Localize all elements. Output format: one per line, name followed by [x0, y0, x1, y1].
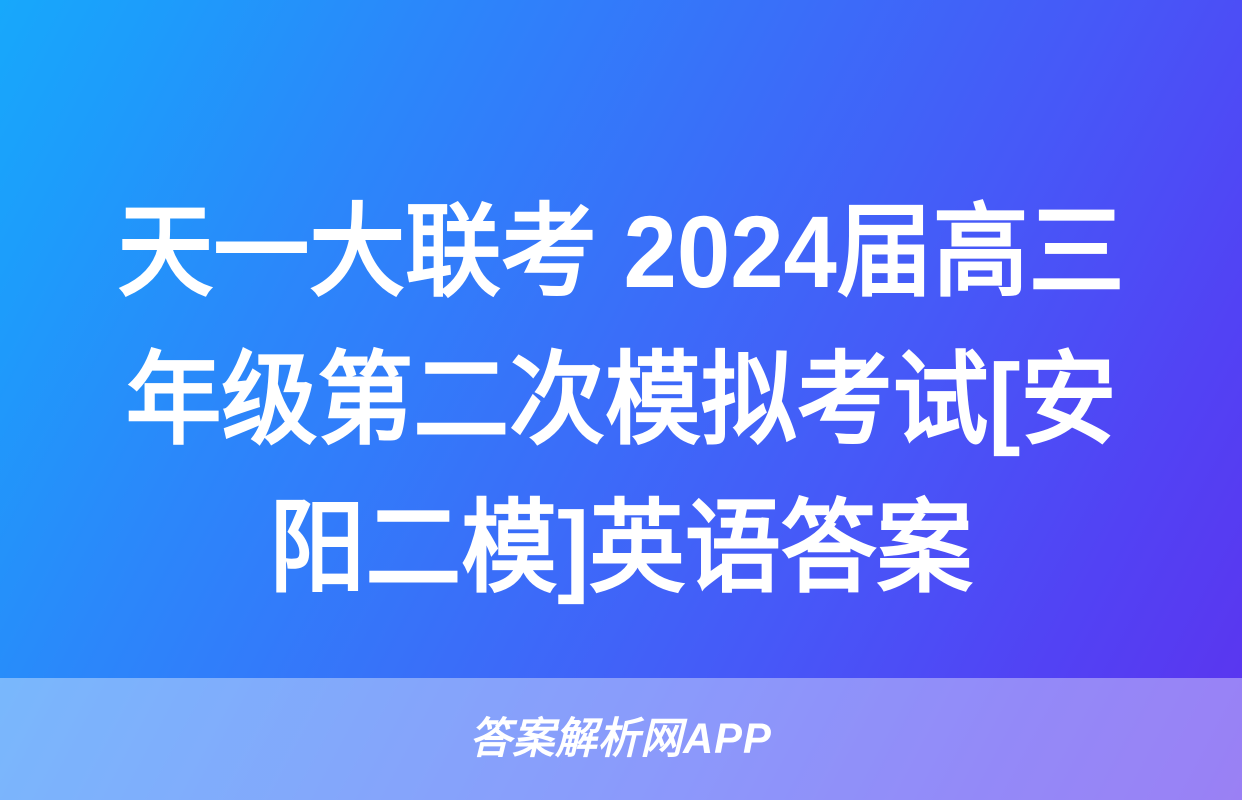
title-line-1: 天一大联考 2024届高三	[111, 178, 1132, 326]
title-line-2: 年级第二次模拟考试[安	[111, 326, 1132, 474]
poster-title: 天一大联考 2024届高三 年级第二次模拟考试[安 阳二模]英语答案	[0, 178, 1242, 633]
watermark-band: 答案解析网APP	[0, 678, 1242, 800]
title-line-3: 阳二模]英语答案	[111, 474, 1132, 622]
watermark-label: 答案解析网APP	[470, 715, 772, 763]
poster-card: 天一大联考 2024届高三 年级第二次模拟考试[安 阳二模]英语答案 答案解析网…	[0, 0, 1242, 800]
